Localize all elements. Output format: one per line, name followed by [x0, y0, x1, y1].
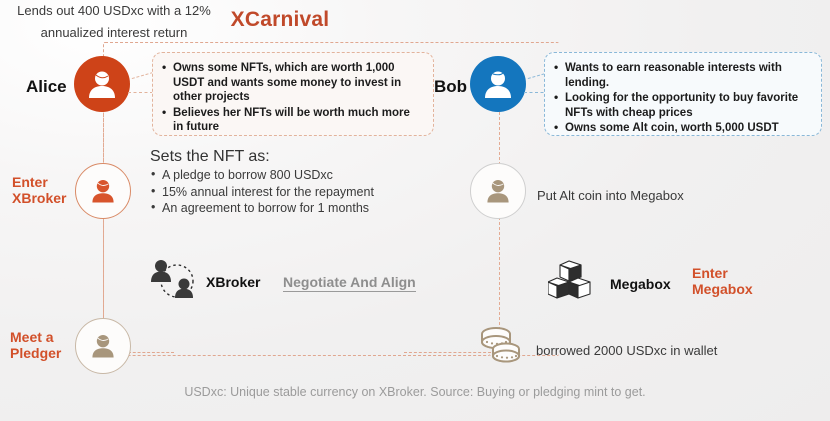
nft-term-item: An agreement to borrow for 1 months	[150, 200, 440, 217]
nft-term-item: A pledge to borrow 800 USDxc	[150, 167, 440, 184]
bubble-item: Looking for the opportunity to buy favor…	[553, 91, 811, 120]
text-put-alt-coin: Put Alt coin into Megabox	[537, 188, 684, 203]
person-avatar-icon	[85, 67, 119, 101]
step-label-enter-megabox: Enter Megabox	[692, 265, 772, 297]
step-label-meet-pledger: Meet a Pledger	[10, 329, 74, 361]
avatar-megabox-user	[470, 163, 526, 219]
text-borrowed-wallet: borrowed 2000 USDxc in wallet	[536, 343, 717, 358]
two-people-circle-icon	[148, 256, 202, 302]
label-megabox: Megabox	[610, 276, 671, 292]
person-avatar-icon	[481, 67, 515, 101]
step-label-line2: XBroker	[12, 190, 74, 206]
bubble-item: Owns some Alt coin, worth 5,000 USDT	[553, 121, 811, 136]
step-label-line2: Megabox	[692, 281, 772, 297]
connector-spine-left	[103, 88, 104, 350]
label-negotiate-and-align: Negotiate And Align	[283, 274, 416, 292]
bubble-item: Owns some NFTs, which are worth 1,000 US…	[161, 61, 423, 105]
persona-label-alice: Alice	[26, 77, 67, 97]
nft-terms-heading: Sets the NFT as:	[150, 148, 440, 166]
person-avatar-icon	[483, 176, 513, 206]
page-title: XCarnival	[0, 8, 560, 32]
footer-note: USDxc: Unique stable currency on XBroker…	[0, 385, 830, 399]
step-label-line2: Pledger	[10, 345, 74, 361]
step-label-line1: Enter	[12, 174, 74, 190]
connector-spine-right	[499, 92, 500, 350]
bubble-item: Wants to earn reasonable interests with …	[553, 61, 811, 90]
nft-term-item: 15% annual interest for the repayment	[150, 184, 440, 201]
diagram-canvas: XCarnival Alice Owns some NFTs, which ar…	[0, 0, 830, 421]
avatar-alice	[74, 56, 130, 112]
bubble-item: Believes her NFTs will be worth much mor…	[161, 106, 423, 135]
label-xbroker: XBroker	[206, 274, 260, 290]
connector-pledger	[128, 352, 174, 353]
step-label-line1: Meet a	[10, 329, 74, 345]
bubble-tail-alice-bottom	[128, 92, 153, 93]
speech-bubble-bob: Wants to earn reasonable interests with …	[544, 52, 822, 136]
avatar-xbroker-user	[75, 163, 131, 219]
coins-stack-icon	[476, 322, 528, 366]
avatar-pledger	[75, 318, 131, 374]
persona-label-bob: Bob	[434, 77, 467, 97]
step-label-enter-xbroker: Enter XBroker	[12, 174, 74, 206]
speech-bubble-alice: Owns some NFTs, which are worth 1,000 US…	[152, 52, 434, 136]
nft-terms-block: Sets the NFT as: A pledge to borrow 800 …	[150, 148, 440, 217]
person-avatar-icon	[88, 331, 118, 361]
avatar-bob	[470, 56, 526, 112]
person-avatar-icon	[88, 176, 118, 206]
step-label-line1: Enter	[692, 265, 772, 281]
three-cubes-icon	[548, 258, 604, 304]
